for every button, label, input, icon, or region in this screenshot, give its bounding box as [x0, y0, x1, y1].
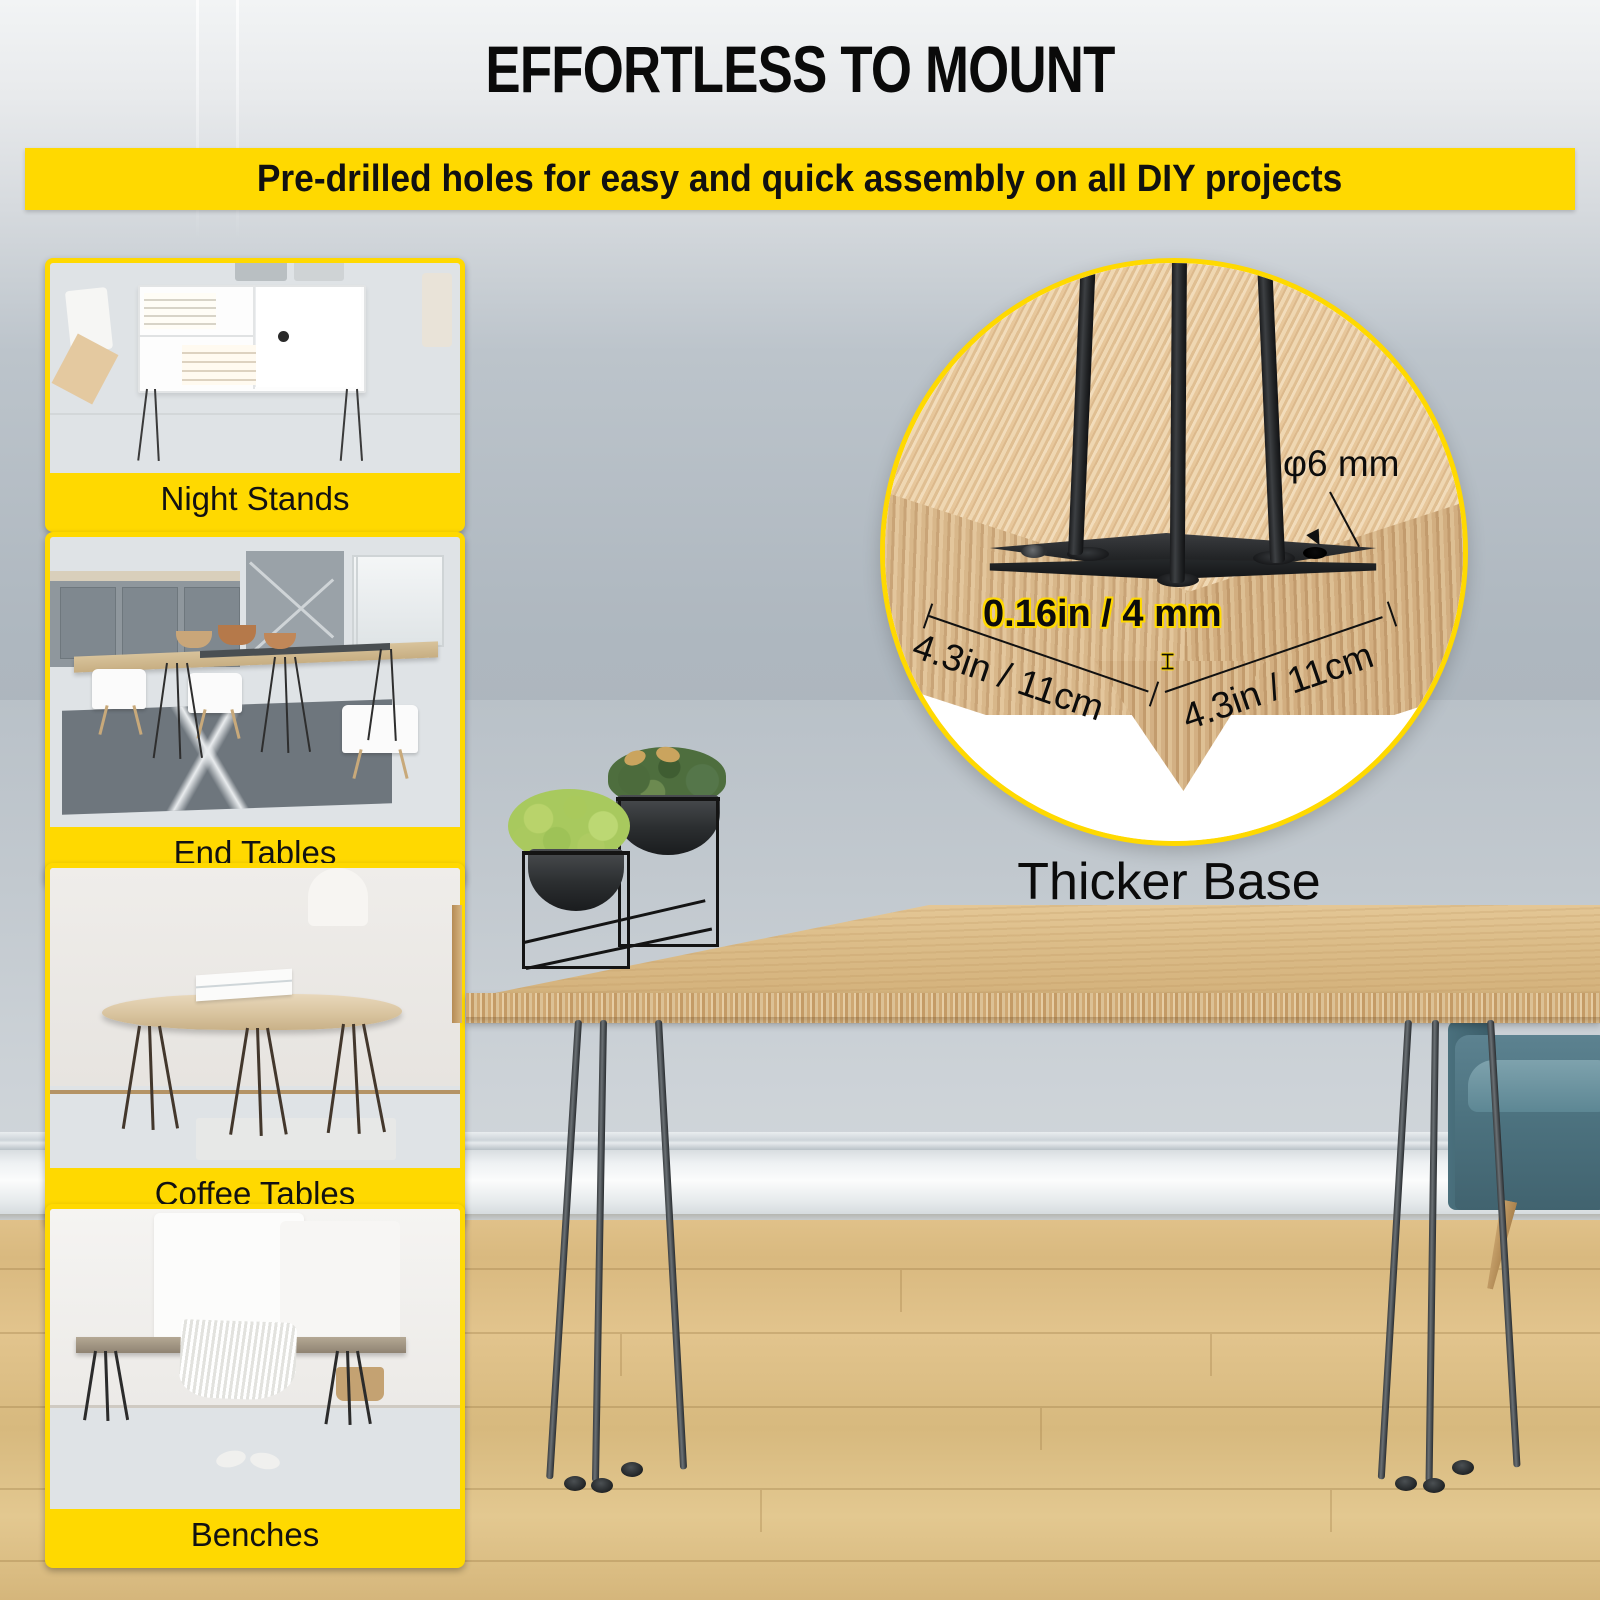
thicker-base-caption: Thicker Base — [880, 852, 1458, 912]
subtitle-banner: Pre-drilled holes for easy and quick ass… — [25, 148, 1575, 210]
use-case-label: Night Stands — [50, 473, 460, 527]
coffee-table-photo — [50, 868, 460, 1168]
hole-diameter-label: φ6 mm — [1283, 443, 1400, 485]
table-leg-foot — [621, 1462, 643, 1477]
plant-pot — [528, 849, 624, 911]
plant-pot — [616, 795, 720, 855]
table-leg-foot — [591, 1478, 613, 1493]
subtitle-text: Pre-drilled holes for easy and quick ass… — [257, 158, 1342, 201]
table-edge-shadow — [466, 1017, 1600, 1024]
table-leg-foot — [564, 1476, 586, 1491]
table-leg-foot — [1452, 1460, 1474, 1475]
use-case-card-night-stands[interactable]: Night Stands — [45, 258, 465, 532]
bench-photo — [50, 1209, 460, 1509]
use-case-card-benches[interactable]: Benches — [45, 1204, 465, 1568]
use-case-label: Benches — [50, 1509, 460, 1563]
page-title: EFFORTLESS TO MOUNT — [160, 36, 1440, 102]
plant-decor — [500, 745, 730, 980]
table-leg-foot — [1395, 1476, 1417, 1491]
hairpin-rod — [1170, 258, 1188, 583]
thickness-marker-icon: ⌶ — [1161, 649, 1174, 675]
table-leg-foot — [1423, 1478, 1445, 1493]
detail-callout-circle: 4.3in / 11cm 4.3in / 11cm 0.16in / 4 mm … — [880, 258, 1468, 846]
screw-icon — [1021, 545, 1047, 558]
plate-thickness-label: 0.16in / 4 mm — [983, 593, 1222, 636]
pre-drilled-hole — [1303, 547, 1327, 559]
nightstand-photo — [50, 263, 460, 473]
armchair-arm — [1468, 1060, 1600, 1112]
use-case-card-coffee-tables[interactable]: Coffee Tables — [45, 863, 465, 1227]
dining-table-photo — [50, 537, 460, 827]
product-infographic: EFFORTLESS TO MOUNT Pre-drilled holes fo… — [0, 0, 1600, 1600]
use-case-card-end-tables[interactable]: End Tables — [45, 532, 465, 886]
table-left-edge — [452, 905, 462, 1023]
